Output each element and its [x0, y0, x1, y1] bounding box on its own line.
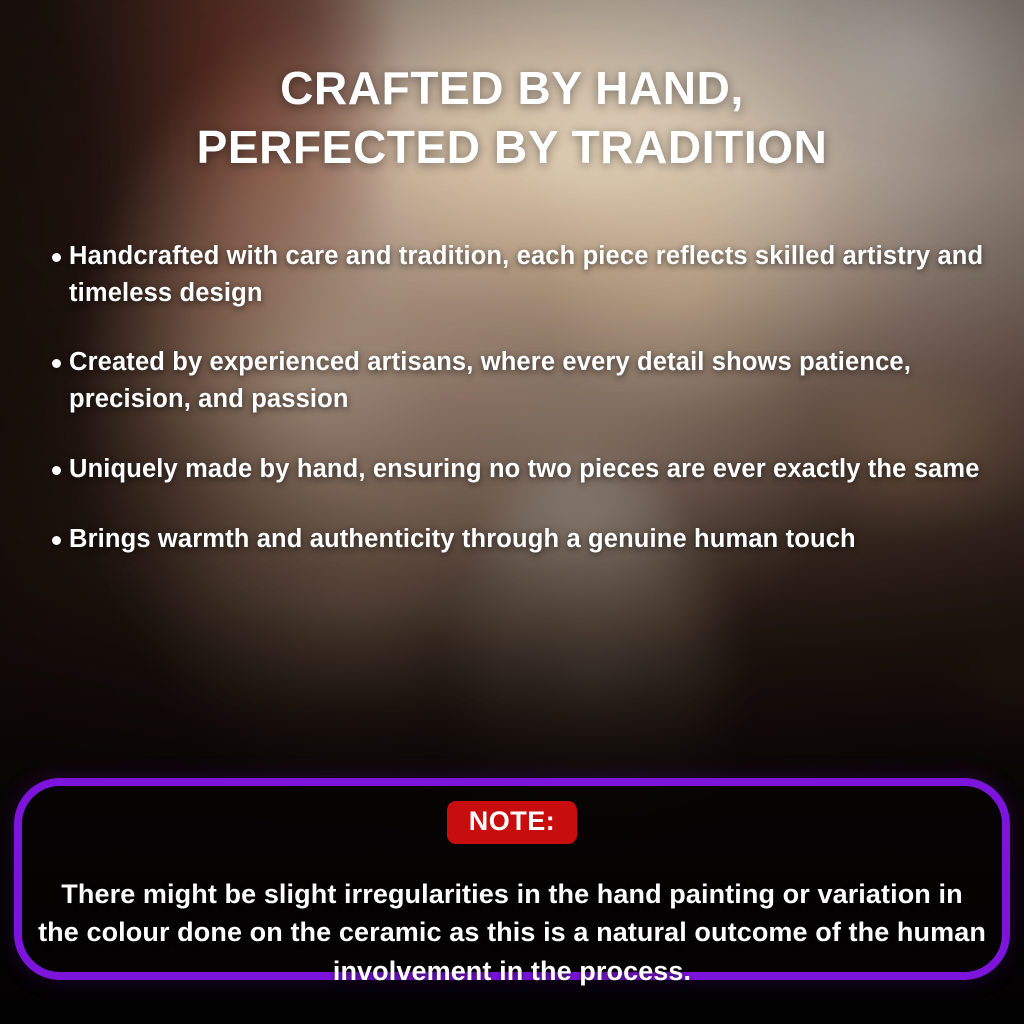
bullet-dot-icon: [52, 466, 61, 475]
feature-bullet-list: Handcrafted with care and tradition, eac…: [52, 238, 990, 557]
note-panel: NOTE: There might be slight irregulariti…: [14, 778, 1010, 980]
note-badge-container: NOTE:: [22, 801, 1002, 844]
headline-line-1: CRAFTED BY HAND,: [40, 59, 984, 118]
list-item: Brings warmth and authenticity through a…: [52, 521, 990, 558]
note-body-text: There might be slight irregularities in …: [38, 875, 986, 990]
bullet-dot-icon: [52, 359, 61, 368]
headline-line-2: PERFECTED BY TRADITION: [40, 118, 984, 177]
bullet-text: Handcrafted with care and tradition, eac…: [69, 238, 990, 311]
bullet-dot-icon: [52, 536, 61, 545]
status-badge: NOTE:: [447, 801, 578, 844]
list-item: Handcrafted with care and tradition, eac…: [52, 238, 990, 311]
promo-poster: CRAFTED BY HAND, PERFECTED BY TRADITION …: [0, 0, 1024, 1024]
list-item: Created by experienced artisans, where e…: [52, 344, 990, 417]
bullet-text: Uniquely made by hand, ensuring no two p…: [69, 451, 980, 488]
poster-content: CRAFTED BY HAND, PERFECTED BY TRADITION …: [0, 0, 1024, 1024]
page-title: CRAFTED BY HAND, PERFECTED BY TRADITION: [0, 59, 1024, 177]
list-item: Uniquely made by hand, ensuring no two p…: [52, 451, 990, 488]
bullet-text: Created by experienced artisans, where e…: [69, 344, 990, 417]
bullet-text: Brings warmth and authenticity through a…: [69, 521, 856, 558]
bullet-dot-icon: [52, 253, 61, 262]
